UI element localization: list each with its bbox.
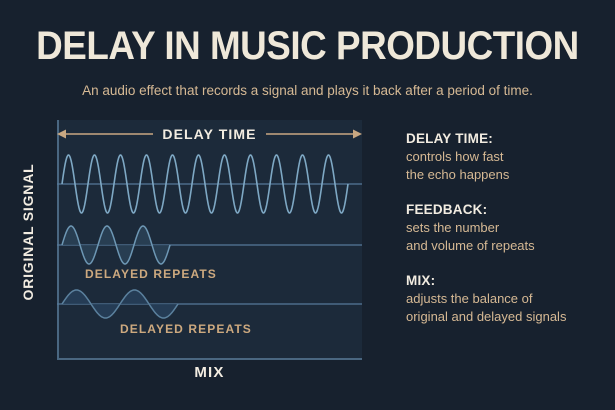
waveform-first-repeat <box>57 226 362 264</box>
info-line: and volume of repeats <box>406 237 606 255</box>
x-axis-label: MIX <box>57 364 362 381</box>
page-subtitle: An audio effect that records a signal an… <box>0 82 615 100</box>
waveform-group <box>0 112 390 392</box>
info-line: original and delayed signals <box>406 308 606 326</box>
waveform-second-repeat <box>57 290 362 318</box>
page-title: DELAY IN MUSIC PRODUCTION <box>25 24 591 68</box>
waveform-original-signal <box>57 155 362 213</box>
delay-time-annotation: DELAY TIME <box>57 123 362 145</box>
delay-time-label: DELAY TIME <box>57 126 362 142</box>
info-line: adjusts the balance of <box>406 290 606 308</box>
infographic-root: DELAY IN MUSIC PRODUCTION An audio effec… <box>0 0 615 410</box>
info-heading: MIX: <box>406 272 606 290</box>
info-heading: DELAY TIME: <box>406 130 606 148</box>
y-axis-label: ORIGINAL SIGNAL <box>20 142 36 322</box>
info-line: the echo happens <box>406 166 606 184</box>
delayed-repeats-label-2: DELAYED REPEATS <box>120 322 252 336</box>
info-block: MIX:adjusts the balance oforiginal and d… <box>406 272 606 325</box>
delayed-repeats-label-1: DELAYED REPEATS <box>85 267 217 281</box>
info-block: FEEDBACK:sets the numberand volume of re… <box>406 201 606 254</box>
info-heading: FEEDBACK: <box>406 201 606 219</box>
info-line: controls how fast <box>406 148 606 166</box>
delay-diagram: DELAY TIME ORIGINAL SIGNAL MIX DELAYED R… <box>0 112 390 392</box>
info-block: DELAY TIME:controls how fastthe echo hap… <box>406 130 606 183</box>
info-column: DELAY TIME:controls how fastthe echo hap… <box>406 130 606 325</box>
info-line: sets the number <box>406 219 606 237</box>
